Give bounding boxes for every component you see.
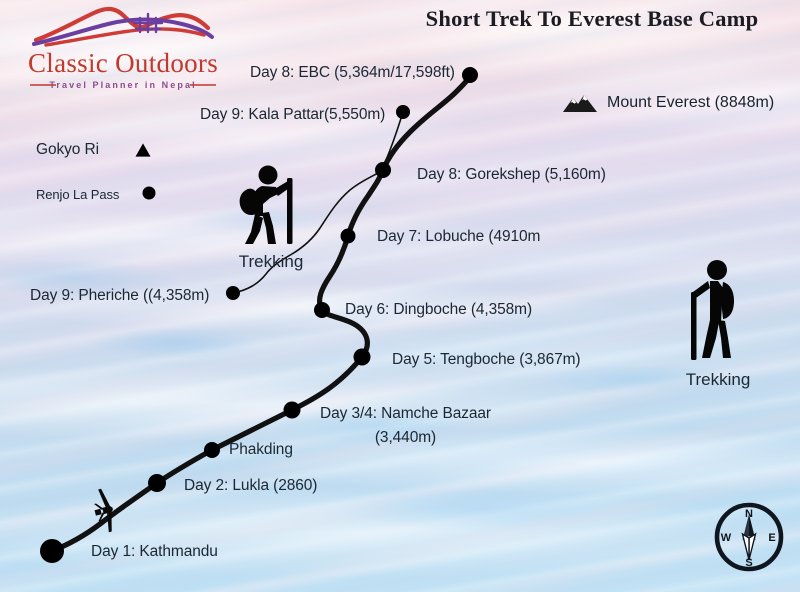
waypoint-label-ebc-line1: Day 8: EBC (5,364m/17,598ft) xyxy=(250,64,455,82)
waypoint-label-namche: Day 3/4: Namche Bazaar(3,440m) xyxy=(320,405,491,448)
hiker-icon xyxy=(676,258,760,364)
waypoint-label-namche-line1: Day 3/4: Namche Bazaar xyxy=(320,405,491,423)
waypoint-marker-lukla[interactable] xyxy=(148,474,166,492)
waypoint-label-dingboche-line1: Day 6: Dingboche (4,358m) xyxy=(345,301,532,319)
compass-north: N xyxy=(745,508,753,520)
compass-rose: N E S W xyxy=(712,500,786,579)
trekking-right: Trekking xyxy=(676,258,760,390)
trekking-left: Trekking xyxy=(232,164,310,272)
landmark-markers xyxy=(136,143,156,199)
waypoint-marker-tengboche[interactable] xyxy=(354,349,371,366)
waypoint-marker-gorekshep[interactable] xyxy=(375,162,391,178)
waypoint-label-lukla-line1: Day 2: Lukla (2860) xyxy=(184,477,317,495)
landmark-marker-renjo-la-pass[interactable] xyxy=(143,187,156,200)
compass-east: E xyxy=(768,532,775,544)
compass-rose-icon: N E S W xyxy=(712,500,786,574)
landmark-marker-gokyo-ri[interactable] xyxy=(136,143,151,156)
waypoint-label-gorekshep: Day 8: Gorekshep (5,160m) xyxy=(417,166,606,184)
waypoint-label-pheriche-line1: Day 9: Pheriche ((4,358m) xyxy=(30,287,209,305)
waypoint-label-lobuche: Day 7: Lobuche (4910m xyxy=(377,228,540,246)
waypoint-marker-namche[interactable] xyxy=(284,402,301,419)
waypoint-marker-kathmandu[interactable] xyxy=(40,539,64,563)
waypoint-label-ebc: Day 8: EBC (5,364m/17,598ft) xyxy=(250,64,455,82)
waypoint-label-kathmandu: Day 1: Kathmandu xyxy=(91,543,218,561)
waypoint-marker-ebc[interactable] xyxy=(462,67,478,83)
waypoint-label-gorekshep-line1: Day 8: Gorekshep (5,160m) xyxy=(417,166,606,184)
landmark-label-gokyo-ri: Gokyo Ri xyxy=(36,141,99,159)
landmark-label-renjo-la-pass: Renjo La Pass xyxy=(36,187,119,202)
trek-map: Short Trek To Everest Base Camp Classic … xyxy=(0,0,800,592)
waypoint-marker-pheriche[interactable] xyxy=(226,286,240,300)
waypoint-marker-dingboche[interactable] xyxy=(314,302,330,318)
waypoint-label-tengboche-line1: Day 5: Tengboche (3,867m) xyxy=(392,351,581,369)
waypoint-label-namche-line2: (3,440m) xyxy=(320,429,491,447)
waypoint-label-kathmandu-line1: Day 1: Kathmandu xyxy=(91,543,218,561)
waypoint-label-kalapattar-line1: Day 9: Kala Pattar(5,550m) xyxy=(200,106,385,124)
waypoint-label-tengboche: Day 5: Tengboche (3,867m) xyxy=(392,351,581,369)
trekking-right-caption: Trekking xyxy=(676,370,760,390)
waypoint-label-kalapattar: Day 9: Kala Pattar(5,550m) xyxy=(200,106,385,124)
trekking-left-caption: Trekking xyxy=(232,252,310,272)
compass-west: W xyxy=(721,532,732,544)
waypoint-label-pheriche: Day 9: Pheriche ((4,358m) xyxy=(30,287,209,305)
hiker-icon xyxy=(232,164,310,246)
waypoint-label-dingboche: Day 6: Dingboche (4,358m) xyxy=(345,301,532,319)
waypoint-marker-kalapattar[interactable] xyxy=(396,105,410,119)
waypoint-marker-phakding[interactable] xyxy=(204,442,220,458)
waypoint-marker-lobuche[interactable] xyxy=(341,229,356,244)
compass-south: S xyxy=(745,557,752,569)
waypoint-label-lukla: Day 2: Lukla (2860) xyxy=(184,477,317,495)
waypoint-label-lobuche-line1: Day 7: Lobuche (4910m xyxy=(377,228,540,246)
waypoint-label-phakding: Phakding xyxy=(229,441,293,459)
waypoint-label-phakding-line1: Phakding xyxy=(229,441,293,459)
